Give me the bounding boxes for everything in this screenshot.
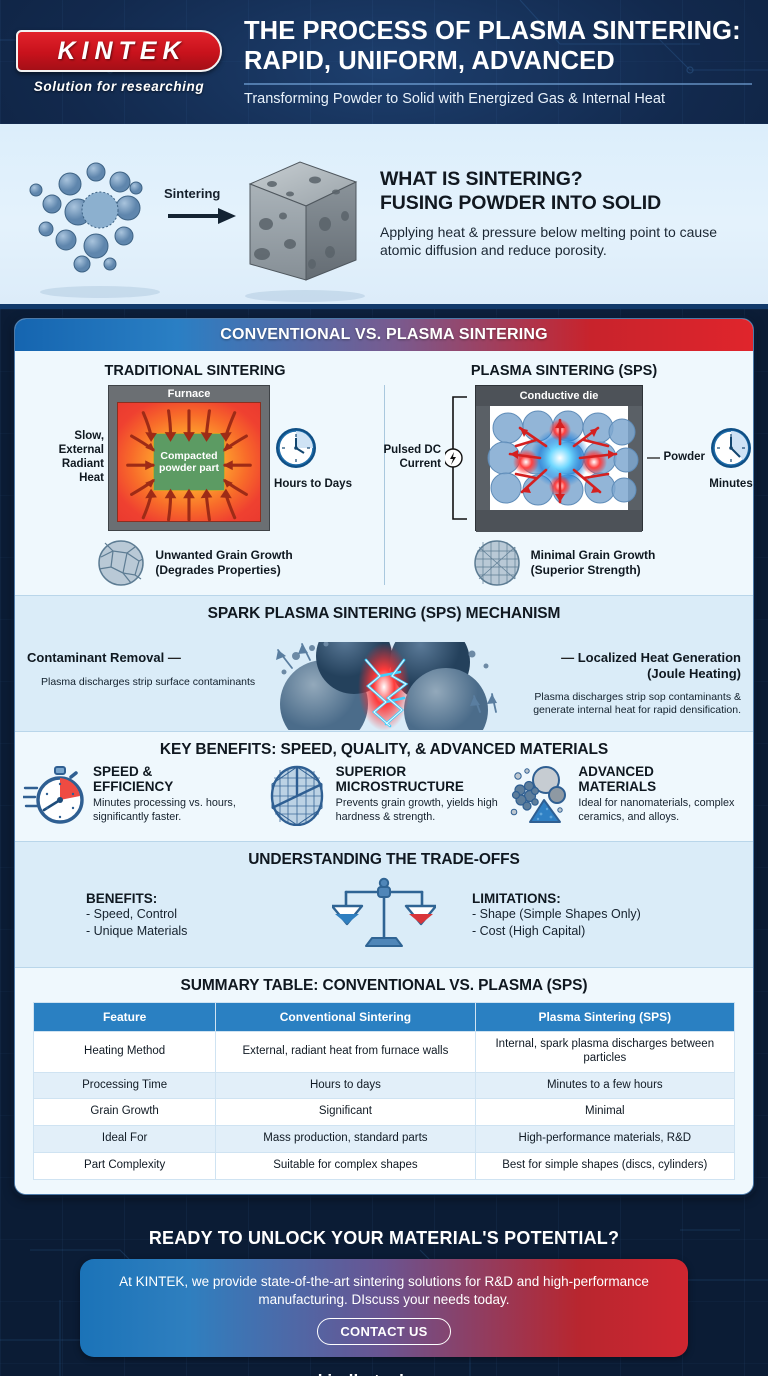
contact-us-button[interactable]: CONTACT US [317, 1318, 450, 1345]
intro-text-block: WHAT IS SINTERING? FUSING POWDER INTO SO… [380, 168, 768, 260]
conductive-die: Conductive die [475, 385, 643, 531]
joule-heating-block: — Localized Heat Generation (Joule Heati… [495, 650, 741, 717]
clock-fast-icon [709, 426, 753, 470]
summary-table-body: Heating Method External, radiant heat fr… [34, 1032, 735, 1180]
contaminant-removal-heading: Contaminant Removal — [27, 650, 273, 666]
tradeoffs-benefits-heading: BENEFITS: [86, 891, 296, 906]
cell-feature: Grain Growth [34, 1099, 216, 1126]
benefit-micro-body: Prevents grain growth, yields high hardn… [336, 797, 503, 824]
cell-conventional: External, radiant heat from furnace wall… [216, 1032, 475, 1073]
tradeoffs-limitations-column: LIMITATIONS: - Shape (Simple Shapes Only… [472, 891, 682, 940]
contaminant-removal-body: Plasma discharges strip surface contamin… [27, 676, 273, 689]
infographic-page: KINTEK Solution for researching THE PROC… [0, 0, 768, 1376]
table-row: Heating Method External, radiant heat fr… [34, 1032, 735, 1073]
cell-conventional: Mass production, standard parts [216, 1126, 475, 1153]
joule-heating-body: Plasma discharges strip sop contaminants… [495, 691, 741, 717]
powder-callout: Powder [647, 451, 705, 465]
cell-feature: Part Complexity [34, 1152, 216, 1179]
die-caption: Conductive die [476, 386, 642, 406]
plasma-sintering-column: PLASMA SINTERING (SPS) Pulsed DC Current… [375, 355, 753, 587]
benefit-microstructure-text: SUPERIOR MICROSTRUCTURE Prevents grain g… [336, 764, 503, 824]
plasma-diagram-row: Pulsed DC Current Conductive die [375, 385, 753, 531]
joule-heating-heading-line2: (Joule Heating) [495, 666, 741, 682]
summary-table-wrapper: Feature Conventional Sintering Plasma Si… [15, 998, 753, 1194]
benefit-speed-heading-line2: EFFICIENCY [93, 779, 260, 794]
comparison-columns: TRADITIONAL SINTERING Slow, External Rad… [15, 351, 753, 595]
cell-plasma: Internal, spark plasma discharges betwee… [475, 1032, 734, 1073]
furnace-box: Furnace [108, 385, 270, 531]
balance-scale-icon [332, 876, 436, 955]
furnace-interior: Compacted powder part [117, 402, 261, 522]
cta-heading: READY TO UNLOCK YOUR MATERIAL'S POTENTIA… [0, 1228, 768, 1249]
cell-feature: Heating Method [34, 1032, 216, 1073]
benefit-advanced-heading-line2: MATERIALS [578, 779, 745, 794]
traditional-duration-label: Hours to Days [274, 478, 352, 490]
header-divider [244, 83, 752, 85]
cell-plasma: High-performance materials, R&D [475, 1126, 734, 1153]
cell-feature: Ideal For [34, 1126, 216, 1153]
traditional-grain-line1: Unwanted Grain Growth [155, 548, 292, 563]
benefit-item-advanced: ADVANCED MATERIALS Ideal for nanomateria… [508, 764, 745, 831]
summary-table-head: Feature Conventional Sintering Plasma Si… [34, 1003, 735, 1032]
tradeoffs-benefits-column: BENEFITS: - Speed, Control - Unique Mate… [86, 891, 296, 940]
traditional-time-indicator: Hours to Days [274, 426, 352, 490]
tradeoffs-title: UNDERSTANDING THE TRADE-OFFS [15, 842, 753, 872]
logo-badge: KINTEK [16, 30, 222, 72]
plasma-grain-text: Minimal Grain Growth (Superior Strength) [531, 548, 656, 578]
cell-conventional: Hours to days [216, 1072, 475, 1099]
traditional-grain-text: Unwanted Grain Growth (Degrades Properti… [155, 548, 292, 578]
table-row: Processing Time Hours to days Minutes to… [34, 1072, 735, 1099]
powder-label: Powder [663, 451, 705, 465]
fine-grain-icon [473, 539, 521, 587]
website-url[interactable]: kindle-tech.com [0, 1371, 768, 1376]
cell-plasma: Minutes to a few hours [475, 1072, 734, 1099]
plasma-side-label: Pulsed DC Current [375, 444, 441, 472]
logo[interactable]: KINTEK Solution for researching [16, 30, 222, 94]
particle-contact-plasma [234, 642, 534, 730]
benefit-advanced-heading-line1: ADVANCED [578, 764, 745, 779]
tradeoffs-benefit-item-2: - Unique Materials [86, 923, 296, 940]
table-header-row: Feature Conventional Sintering Plasma Si… [34, 1003, 735, 1032]
cell-conventional: Suitable for complex shapes [216, 1152, 475, 1179]
traditional-title: TRADITIONAL SINTERING [15, 355, 375, 385]
benefit-micro-heading-line2: MICROSTRUCTURE [336, 779, 503, 794]
cta-section: READY TO UNLOCK YOUR MATERIAL'S POTENTIA… [0, 1228, 768, 1376]
cta-body: At KINTEK, we provide state-of-the-art s… [100, 1273, 668, 1309]
sintering-arrow [168, 208, 236, 224]
coarse-grain-icon [97, 539, 145, 587]
sintering-arrow-label: Sintering [164, 186, 220, 201]
benefits-title: KEY BENEFITS: SPEED, QUALITY, & ADVANCED… [15, 732, 753, 762]
plasma-grain-line2: (Superior Strength) [531, 563, 656, 578]
plasma-duration-label: Minutes [709, 478, 753, 490]
summary-table-title: SUMMARY TABLE: CONVENTIONAL VS. PLASMA (… [15, 968, 753, 998]
summary-table: Feature Conventional Sintering Plasma Si… [33, 1002, 735, 1180]
benefit-speed-heading-line1: SPEED & [93, 764, 260, 779]
tradeoffs-section: UNDERSTANDING THE TRADE-OFFS BENEFITS: -… [15, 842, 753, 968]
logo-brand-text: KINTEK [51, 37, 186, 66]
intro-illustration: Sintering [0, 124, 380, 304]
header-text-block: THE PROCESS OF PLASMA SINTERING: RAPID, … [222, 17, 752, 106]
table-header-feature: Feature [34, 1003, 216, 1032]
plasma-grain-row: Minimal Grain Growth (Superior Strength) [375, 539, 753, 587]
table-row: Grain Growth Significant Minimal [34, 1099, 735, 1126]
traditional-side-label: Slow, External Radiant Heat [38, 430, 104, 485]
intro-section: Sintering WHAT IS SINTERING? FUSING POWD… [0, 124, 768, 309]
tradeoffs-body: BENEFITS: - Speed, Control - Unique Mate… [15, 872, 753, 967]
benefit-speed-body: Minutes processing vs. hours, significan… [93, 797, 260, 824]
powder-leader-line [647, 455, 660, 461]
furnace-caption: Furnace [109, 386, 269, 402]
contaminant-removal-label: Contaminant Removal [27, 650, 164, 665]
die-body [476, 406, 642, 532]
cell-conventional: Significant [216, 1099, 475, 1126]
stopwatch-icon [23, 764, 85, 831]
benefits-list: SPEED & EFFICIENCY Minutes processing vs… [15, 762, 753, 841]
dc-circuit-wire [445, 385, 471, 531]
table-row: Part Complexity Suitable for complex sha… [34, 1152, 735, 1179]
radiant-heat-arrows [118, 403, 260, 527]
page-header: KINTEK Solution for researching THE PROC… [0, 0, 768, 124]
tradeoffs-limitations-heading: LIMITATIONS: [472, 891, 682, 906]
cell-plasma: Minimal [475, 1099, 734, 1126]
joule-heating-label: Localized Heat Generation [578, 650, 741, 665]
traditional-diagram-row: Slow, External Radiant Heat Furnace [15, 385, 375, 531]
powder-to-solid-diagram [0, 124, 380, 309]
logo-tagline: Solution for researching [16, 79, 222, 94]
benefit-advanced-body: Ideal for nanomaterials, complex ceramic… [578, 797, 745, 824]
benefit-item-microstructure: SUPERIOR MICROSTRUCTURE Prevents grain g… [266, 764, 503, 831]
cell-feature: Processing Time [34, 1072, 216, 1099]
plasma-particles-diagram [476, 406, 644, 532]
benefits-section: KEY BENEFITS: SPEED, QUALITY, & ADVANCED… [15, 732, 753, 842]
plasma-title: PLASMA SINTERING (SPS) [375, 355, 753, 385]
comparison-section: TRADITIONAL SINTERING Slow, External Rad… [15, 351, 753, 596]
plasma-time-indicator: Minutes [709, 426, 753, 490]
header-title-line1: THE PROCESS OF PLASMA SINTERING: [244, 17, 752, 46]
mechanism-section: SPARK PLASMA SINTERING (SPS) MECHANISM [15, 596, 753, 732]
traditional-sintering-column: TRADITIONAL SINTERING Slow, External Rad… [15, 355, 375, 587]
benefit-speed-text: SPEED & EFFICIENCY Minutes processing vs… [93, 764, 260, 824]
mechanism-illustration [234, 642, 534, 735]
compare-banner: CONVENTIONAL VS. PLASMA SINTERING [15, 319, 753, 351]
table-header-conventional: Conventional Sintering [216, 1003, 475, 1032]
tradeoffs-benefit-item-1: - Speed, Control [86, 906, 296, 923]
nanoparticles-icon [508, 764, 570, 831]
benefit-advanced-text: ADVANCED MATERIALS Ideal for nanomateria… [578, 764, 745, 824]
intro-heading-line2: FUSING POWDER INTO SOLID [380, 192, 744, 216]
microstructure-cube-icon [266, 764, 328, 831]
table-row: Ideal For Mass production, standard part… [34, 1126, 735, 1153]
joule-heating-heading-line1: — Localized Heat Generation [495, 650, 741, 666]
header-subtitle: Transforming Powder to Solid with Energi… [244, 91, 752, 107]
summary-table-section: SUMMARY TABLE: CONVENTIONAL VS. PLASMA (… [15, 968, 753, 1194]
main-content-card: CONVENTIONAL VS. PLASMA SINTERING TRADIT… [14, 318, 754, 1195]
tradeoffs-limitation-item-1: - Shape (Simple Shapes Only) [472, 906, 682, 923]
mechanism-diagram: Contaminant Removal — Plasma discharges … [15, 626, 753, 731]
cta-box: At KINTEK, we provide state-of-the-art s… [80, 1259, 688, 1357]
header-title-line2: RAPID, UNIFORM, ADVANCED [244, 47, 752, 76]
contaminant-removal-block: Contaminant Removal — Plasma discharges … [27, 650, 273, 688]
mechanism-title: SPARK PLASMA SINTERING (SPS) MECHANISM [15, 596, 753, 626]
cell-plasma: Best for simple shapes (discs, cylinders… [475, 1152, 734, 1179]
benefit-item-speed: SPEED & EFFICIENCY Minutes processing vs… [23, 764, 260, 831]
intro-heading-line1: WHAT IS SINTERING? [380, 168, 744, 192]
intro-body: Applying heat & pressure below melting p… [380, 223, 744, 260]
table-header-plasma: Plasma Sintering (SPS) [475, 1003, 734, 1032]
benefit-micro-heading-line1: SUPERIOR [336, 764, 503, 779]
plasma-grain-line1: Minimal Grain Growth [531, 548, 656, 563]
traditional-grain-row: Unwanted Grain Growth (Degrades Properti… [15, 539, 375, 587]
clock-icon [274, 426, 318, 470]
tradeoffs-limitation-item-2: - Cost (High Capital) [472, 923, 682, 940]
traditional-grain-line2: (Degrades Properties) [155, 563, 292, 578]
